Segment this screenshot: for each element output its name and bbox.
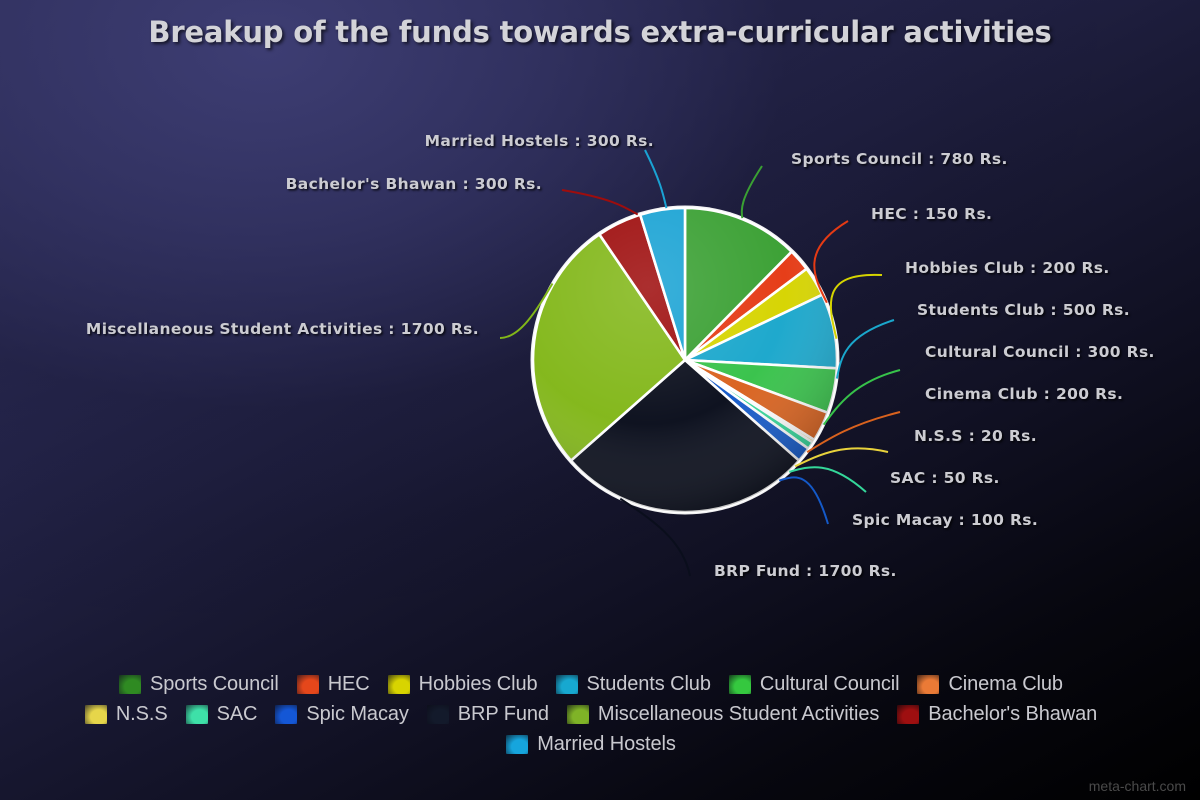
legend: Sports CouncilHECHobbies ClubStudents Cl…	[0, 670, 1200, 758]
legend-color-swatch	[85, 705, 107, 724]
legend-color-swatch	[897, 705, 919, 724]
legend-color-swatch	[917, 675, 939, 694]
legend-item-label: SAC	[217, 703, 258, 726]
legend-color-swatch	[297, 675, 319, 694]
legend-item-label: N.S.S	[116, 703, 168, 726]
legend-item[interactable]: BRP Fund	[427, 700, 549, 728]
legend-item[interactable]: SAC	[186, 700, 258, 728]
slice-callout-label: Spic Macay : 100 Rs.	[852, 511, 1038, 529]
slice-callout-label: BRP Fund : 1700 Rs.	[714, 562, 897, 580]
leader-line	[831, 275, 882, 339]
slice-callout-label: N.S.S : 20 Rs.	[914, 427, 1037, 445]
slice-callout-label: Married Hostels : 300 Rs.	[425, 132, 654, 150]
pie-slice-group[interactable]	[531, 206, 840, 515]
legend-color-swatch	[506, 735, 528, 754]
slice-callout-label: SAC : 50 Rs.	[890, 469, 1000, 487]
legend-item-label: Miscellaneous Student Activities	[598, 703, 879, 726]
legend-item[interactable]: Married Hostels	[506, 730, 676, 758]
slice-callout-label: Miscellaneous Student Activities : 1700 …	[86, 320, 479, 338]
slice-callout-label: Cultural Council : 300 Rs.	[925, 343, 1155, 361]
legend-item-label: HEC	[328, 673, 370, 696]
slice-callout-label: Sports Council : 780 Rs.	[791, 150, 1008, 168]
legend-item[interactable]: Bachelor's Bhawan	[897, 700, 1097, 728]
legend-item-label: Cultural Council	[760, 673, 900, 696]
leader-line	[645, 150, 666, 208]
legend-item[interactable]: Hobbies Club	[388, 670, 538, 698]
legend-item-label: Students Club	[587, 673, 711, 696]
slice-callout-label: Hobbies Club : 200 Rs.	[905, 259, 1110, 277]
legend-item-label: Married Hostels	[537, 733, 676, 756]
legend-color-swatch	[427, 705, 449, 724]
legend-item[interactable]: HEC	[297, 670, 370, 698]
slice-callout-label: Cinema Club : 200 Rs.	[925, 385, 1123, 403]
legend-color-swatch	[388, 675, 410, 694]
legend-item-label: Sports Council	[150, 673, 279, 696]
legend-item[interactable]: Students Club	[556, 670, 711, 698]
legend-item[interactable]: Spic Macay	[275, 700, 408, 728]
slice-callout-label: Bachelor's Bhawan : 300 Rs.	[286, 175, 542, 193]
legend-item-label: Cinema Club	[948, 673, 1063, 696]
legend-color-swatch	[567, 705, 589, 724]
legend-item-label: Bachelor's Bhawan	[928, 703, 1097, 726]
legend-item[interactable]: N.S.S	[85, 700, 168, 728]
chart-canvas: Breakup of the funds towards extra-curri…	[0, 0, 1200, 800]
slice-callout-label: HEC : 150 Rs.	[871, 205, 992, 223]
legend-color-swatch	[556, 675, 578, 694]
legend-item[interactable]: Miscellaneous Student Activities	[567, 700, 879, 728]
legend-item[interactable]: Cinema Club	[917, 670, 1063, 698]
legend-item-label: Spic Macay	[306, 703, 408, 726]
leader-line	[837, 320, 894, 379]
legend-item[interactable]: Cultural Council	[729, 670, 900, 698]
leader-line	[562, 190, 638, 215]
leader-line	[779, 477, 828, 524]
legend-item-label: BRP Fund	[458, 703, 549, 726]
legend-item-label: Hobbies Club	[419, 673, 538, 696]
legend-color-swatch	[275, 705, 297, 724]
slice-callout-label: Students Club : 500 Rs.	[917, 301, 1130, 319]
legend-color-swatch	[186, 705, 208, 724]
leader-line	[742, 166, 762, 218]
legend-color-swatch	[729, 675, 751, 694]
pie-chart-area: Sports Council : 780 Rs.HEC : 150 Rs.Hob…	[0, 0, 1200, 660]
legend-color-swatch	[119, 675, 141, 694]
legend-item[interactable]: Sports Council	[119, 670, 279, 698]
watermark: meta-chart.com	[1089, 778, 1186, 794]
